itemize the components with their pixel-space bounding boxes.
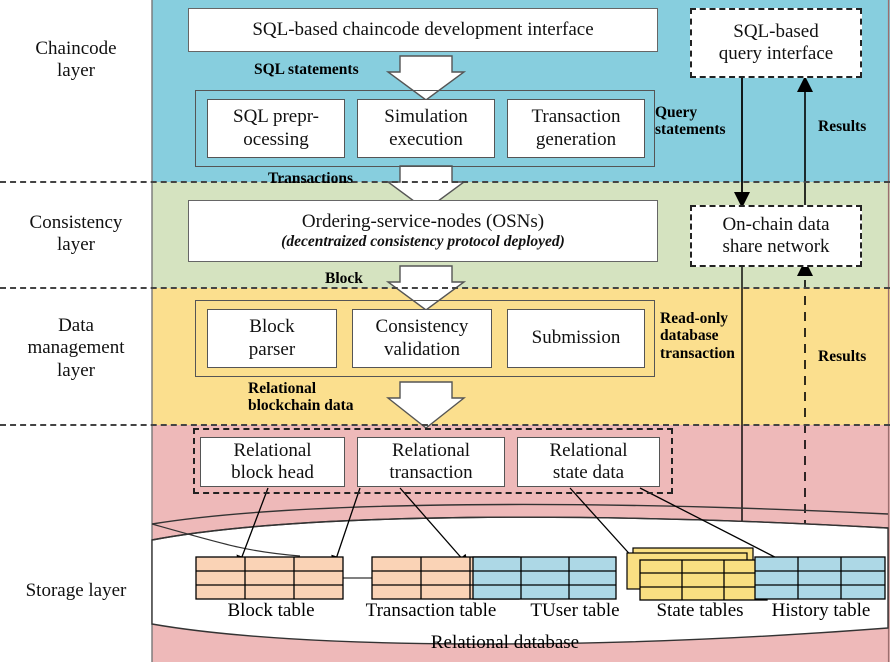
caption-state-tables-text: State tables <box>656 600 743 621</box>
caption-relational-database-text: Relational database <box>431 632 579 653</box>
caption-block-table: Block table <box>196 600 346 622</box>
table-glyphs <box>0 0 890 662</box>
caption-relational-database: Relational database <box>380 632 630 654</box>
caption-tuser-table: TUser table <box>500 600 650 622</box>
table-glyph-state-tables <box>627 548 767 600</box>
caption-transaction-table: Transaction table <box>336 600 526 622</box>
caption-state-tables: State tables <box>630 600 770 622</box>
caption-history-table: History table <box>755 600 887 622</box>
caption-history-table-text: History table <box>772 600 871 621</box>
table-glyph-block-table <box>196 557 343 599</box>
caption-block-table-text: Block table <box>227 600 314 621</box>
table-glyph-tuser-table <box>473 557 616 599</box>
caption-tuser-table-text: TUser table <box>530 600 619 621</box>
caption-transaction-table-text: Transaction table <box>366 600 497 621</box>
table-glyph-history-table <box>755 557 885 599</box>
architecture-diagram: Chaincode layer Consistency layer Data m… <box>0 0 890 662</box>
